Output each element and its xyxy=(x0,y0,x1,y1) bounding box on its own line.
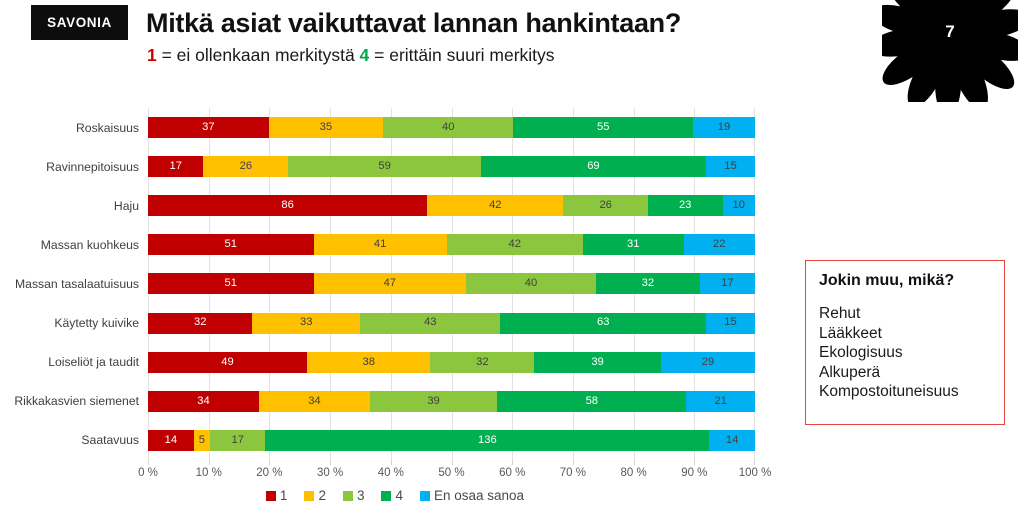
axis-tick-label: 80 % xyxy=(620,467,646,479)
bar-segment-value: 38 xyxy=(362,357,374,368)
bar-segment-value: 69 xyxy=(587,161,599,172)
bar-segment-value: 55 xyxy=(597,122,609,133)
axis-tick-label: 40 % xyxy=(378,467,404,479)
bar-segment[interactable]: 19 xyxy=(693,117,755,138)
savonia-logo: SAVONIA xyxy=(31,5,128,40)
bar-segment-value: 26 xyxy=(599,200,611,211)
bar-segment[interactable]: 136 xyxy=(265,430,709,451)
axis-tick-mark xyxy=(694,460,695,465)
axis-tick-mark xyxy=(269,460,270,465)
chart-row: Loiseliöt ja taudit4938323929 xyxy=(148,343,755,382)
bar-segment[interactable]: 29 xyxy=(661,352,755,373)
legend-label: 2 xyxy=(318,488,326,503)
bar-segment-value: 5 xyxy=(199,435,205,446)
bar-segment[interactable]: 40 xyxy=(383,117,514,138)
chart-row: Ravinnepitoisuus1726596915 xyxy=(148,147,755,186)
legend-item[interactable]: 1 xyxy=(266,488,288,503)
legend-swatch xyxy=(420,491,430,501)
chart-category-label: Roskaisuus xyxy=(0,121,148,135)
stacked-bar: 4938323929 xyxy=(148,352,755,373)
other-answers-title: Jokin muu, mikä? xyxy=(819,272,991,290)
bar-segment[interactable]: 42 xyxy=(427,195,563,216)
bar-segment[interactable]: 10 xyxy=(723,195,755,216)
bar-segment-value: 136 xyxy=(478,435,497,446)
axis-tick-label: 30 % xyxy=(317,467,343,479)
slide-canvas: SAVONIA Mitkä asiat vaikuttavat lannan h… xyxy=(0,0,1024,520)
bar-segment[interactable]: 58 xyxy=(497,391,686,412)
bar-segment[interactable]: 39 xyxy=(370,391,497,412)
legend-item[interactable]: 4 xyxy=(381,488,403,503)
other-answer-item: Kompostoituneisuus xyxy=(819,382,991,402)
bar-segment[interactable]: 39 xyxy=(534,352,661,373)
other-answer-item: Ekologisuus xyxy=(819,343,991,363)
bar-segment-value: 26 xyxy=(240,161,252,172)
axis-tick-label: 20 % xyxy=(256,467,282,479)
stacked-bar: 3735405519 xyxy=(148,117,755,138)
chart-category-label: Massan kuohkeus xyxy=(0,238,148,252)
bar-segment[interactable]: 37 xyxy=(148,117,269,138)
chart-row: Haju8642262310 xyxy=(148,186,755,225)
bar-segment-value: 39 xyxy=(591,357,603,368)
bar-segment[interactable]: 86 xyxy=(148,195,427,216)
bar-segment[interactable]: 47 xyxy=(314,273,467,294)
bar-segment-value: 34 xyxy=(197,396,209,407)
chart-category-label: Ravinnepitoisuus xyxy=(0,160,148,174)
bar-segment[interactable]: 17 xyxy=(148,156,203,177)
other-answer-item: Lääkkeet xyxy=(819,324,991,344)
bar-segment[interactable]: 40 xyxy=(466,273,596,294)
legend-item[interactable]: En osaa sanoa xyxy=(420,488,524,503)
bar-segment-value: 10 xyxy=(733,200,745,211)
bar-segment-value: 49 xyxy=(221,357,233,368)
bar-segment-value: 40 xyxy=(442,122,454,133)
scale-high-text: = erittäin suuri merkitys xyxy=(369,45,554,65)
stacked-bar: 3233436315 xyxy=(148,313,755,334)
axis-tick-mark xyxy=(512,460,513,465)
bar-segment-value: 40 xyxy=(525,278,537,289)
axis-tick-label: 50 % xyxy=(438,467,464,479)
bar-segment-value: 17 xyxy=(232,435,244,446)
savonia-logo-text: SAVONIA xyxy=(47,15,112,30)
legend-item[interactable]: 2 xyxy=(304,488,326,503)
bar-segment[interactable]: 63 xyxy=(500,313,706,334)
bar-segment[interactable]: 32 xyxy=(430,352,534,373)
bar-segment-value: 22 xyxy=(713,239,725,250)
bar-segment-value: 14 xyxy=(726,435,738,446)
bar-segment-value: 43 xyxy=(424,317,436,328)
stacked-bar: 5141423122 xyxy=(148,234,755,255)
bar-segment[interactable]: 14 xyxy=(148,430,194,451)
bar-segment-value: 19 xyxy=(718,122,730,133)
axis-tick-mark xyxy=(573,460,574,465)
bar-segment[interactable]: 15 xyxy=(706,156,755,177)
bar-segment-value: 63 xyxy=(597,317,609,328)
bar-segment-value: 32 xyxy=(642,278,654,289)
axis-tick-mark xyxy=(209,460,210,465)
bar-segment-value: 31 xyxy=(627,239,639,250)
page-title: Mitkä asiat vaikuttavat lannan hankintaa… xyxy=(146,8,681,39)
bar-segment[interactable]: 17 xyxy=(210,430,265,451)
chart-category-label: Rikkakasvien siemenet xyxy=(0,394,148,408)
chart-row: Käytetty kuivike3233436315 xyxy=(148,304,755,343)
bar-segment-value: 51 xyxy=(225,239,237,250)
bar-segment[interactable]: 31 xyxy=(583,234,684,255)
bar-segment-value: 32 xyxy=(476,357,488,368)
stacked-bar-chart: Roskaisuus3735405519Ravinnepitoisuus1726… xyxy=(0,100,790,520)
legend-label: En osaa sanoa xyxy=(434,488,524,503)
bar-segment[interactable]: 14 xyxy=(709,430,755,451)
other-answers-box: Jokin muu, mikä? RehutLääkkeetEkologisuu… xyxy=(805,260,1005,425)
legend-swatch xyxy=(381,491,391,501)
bar-segment-value: 41 xyxy=(374,239,386,250)
chart-category-label: Saatavuus xyxy=(0,433,148,447)
scale-low-text: = ei ollenkaan merkitystä xyxy=(157,45,360,65)
chart-category-label: Haju xyxy=(0,199,148,213)
bar-segment[interactable]: 51 xyxy=(148,273,314,294)
bar-segment-value: 42 xyxy=(509,239,521,250)
legend-swatch xyxy=(266,491,276,501)
bar-segment[interactable]: 26 xyxy=(203,156,288,177)
bar-segment-value: 32 xyxy=(194,317,206,328)
scale-legend-subtitle: 1 = ei ollenkaan merkitystä 4 = erittäin… xyxy=(147,45,555,66)
axis-tick-mark xyxy=(634,460,635,465)
other-answers-list: RehutLääkkeetEkologisuusAlkuperäKomposto… xyxy=(819,304,991,402)
page-number: 7 xyxy=(882,22,1018,42)
bar-segment[interactable]: 69 xyxy=(481,156,706,177)
chart-row: Roskaisuus3735405519 xyxy=(148,108,755,147)
axis-tick-mark xyxy=(452,460,453,465)
other-answer-item: Rehut xyxy=(819,304,991,324)
page-number-badge: 7 xyxy=(882,0,1018,102)
scale-high-value: 4 xyxy=(360,45,370,65)
bar-segment-value: 58 xyxy=(586,396,598,407)
bar-segment-value: 47 xyxy=(384,278,396,289)
bar-segment-value: 39 xyxy=(427,396,439,407)
bar-segment-value: 37 xyxy=(202,122,214,133)
axis-tick-mark xyxy=(330,460,331,465)
bar-segment-value: 86 xyxy=(281,200,293,211)
chart-row: Massan kuohkeus5141423122 xyxy=(148,225,755,264)
chart-row: Massan tasalaatuisuus5147403217 xyxy=(148,264,755,303)
bar-segment-value: 42 xyxy=(489,200,501,211)
bar-segment[interactable]: 55 xyxy=(513,117,692,138)
legend-swatch xyxy=(343,491,353,501)
chart-row: Rikkakasvien siemenet3434395821 xyxy=(148,382,755,421)
bar-segment[interactable]: 17 xyxy=(700,273,755,294)
bar-segment[interactable]: 33 xyxy=(252,313,360,334)
stacked-bar: 1451713614 xyxy=(148,430,755,451)
bar-segment[interactable]: 38 xyxy=(307,352,430,373)
chart-rows: Roskaisuus3735405519Ravinnepitoisuus1726… xyxy=(148,108,755,460)
bar-segment-value: 29 xyxy=(702,357,714,368)
bar-segment[interactable]: 26 xyxy=(563,195,647,216)
axis-tick-label: 100 % xyxy=(739,467,772,479)
bar-segment[interactable]: 22 xyxy=(684,234,755,255)
bar-segment[interactable]: 23 xyxy=(648,195,723,216)
chart-legend: 1234En osaa sanoa xyxy=(0,488,790,503)
axis-tick-mark xyxy=(148,460,149,465)
chart-category-label: Massan tasalaatuisuus xyxy=(0,277,148,291)
bar-segment-value: 15 xyxy=(724,317,736,328)
legend-item[interactable]: 3 xyxy=(343,488,365,503)
bar-segment-value: 17 xyxy=(721,278,733,289)
bar-segment-value: 35 xyxy=(320,122,332,133)
stacked-bar: 3434395821 xyxy=(148,391,755,412)
bar-segment-value: 51 xyxy=(225,278,237,289)
bar-segment[interactable]: 49 xyxy=(148,352,307,373)
legend-swatch xyxy=(304,491,314,501)
bar-segment[interactable]: 59 xyxy=(288,156,481,177)
bar-segment-value: 21 xyxy=(714,396,726,407)
stacked-bar: 5147403217 xyxy=(148,273,755,294)
bar-segment[interactable]: 5 xyxy=(194,430,210,451)
chart-row: Saatavuus1451713614 xyxy=(148,421,755,460)
stacked-bar: 1726596915 xyxy=(148,156,755,177)
chart-x-axis: 0 %10 %20 %30 %40 %50 %60 %70 %80 %90 %1… xyxy=(148,460,755,484)
bar-segment[interactable]: 32 xyxy=(148,313,252,334)
axis-tick-label: 10 % xyxy=(196,467,222,479)
bar-segment[interactable]: 32 xyxy=(596,273,700,294)
stacked-bar: 8642262310 xyxy=(148,195,755,216)
bar-segment[interactable]: 41 xyxy=(314,234,447,255)
bar-segment[interactable]: 42 xyxy=(447,234,583,255)
bar-segment-value: 15 xyxy=(724,161,736,172)
bar-segment-value: 17 xyxy=(170,161,182,172)
bar-segment[interactable]: 21 xyxy=(686,391,755,412)
chart-category-label: Käytetty kuivike xyxy=(0,316,148,330)
chart-category-label: Loiseliöt ja taudit xyxy=(0,355,148,369)
chart-plot-area: Roskaisuus3735405519Ravinnepitoisuus1726… xyxy=(148,108,755,460)
bar-segment[interactable]: 43 xyxy=(360,313,500,334)
bar-segment-value: 33 xyxy=(300,317,312,328)
bar-segment-value: 23 xyxy=(679,200,691,211)
legend-label: 3 xyxy=(357,488,365,503)
bar-segment[interactable]: 34 xyxy=(148,391,259,412)
axis-tick-label: 0 % xyxy=(138,467,158,479)
bar-segment[interactable]: 34 xyxy=(259,391,370,412)
bar-segment-value: 59 xyxy=(378,161,390,172)
bar-segment[interactable]: 15 xyxy=(706,313,755,334)
other-answer-item: Alkuperä xyxy=(819,363,991,383)
axis-tick-mark xyxy=(754,460,755,465)
bar-segment[interactable]: 51 xyxy=(148,234,314,255)
legend-label: 4 xyxy=(395,488,403,503)
axis-tick-label: 90 % xyxy=(681,467,707,479)
bar-segment[interactable]: 35 xyxy=(269,117,383,138)
axis-tick-label: 70 % xyxy=(560,467,586,479)
axis-tick-mark xyxy=(391,460,392,465)
scale-low-value: 1 xyxy=(147,45,157,65)
starburst-icon xyxy=(882,0,1018,102)
axis-tick-label: 60 % xyxy=(499,467,525,479)
legend-label: 1 xyxy=(280,488,288,503)
bar-segment-value: 34 xyxy=(308,396,320,407)
bar-segment-value: 14 xyxy=(165,435,177,446)
